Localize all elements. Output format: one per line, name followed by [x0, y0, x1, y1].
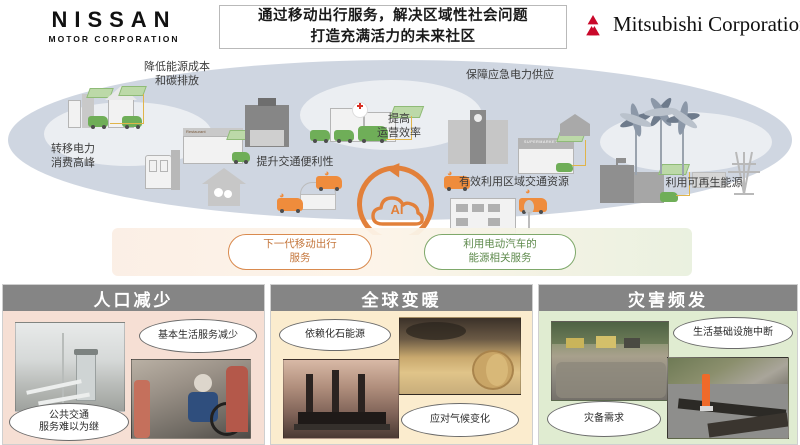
callout-line: 灾备需求 — [584, 413, 624, 426]
callout-line: 服务难以为继 — [39, 422, 99, 435]
wheel-icon — [91, 125, 95, 129]
pill-line: 利用电动汽车的 — [463, 238, 537, 252]
wheel-icon — [539, 210, 543, 214]
label-raise-efficiency: 提高 运营效率 — [366, 112, 432, 140]
header-bar: NISSAN MOTOR CORPORATION 通过移动出行服务，解决区域性社… — [0, 0, 800, 52]
callout-line: 生活基础设施中断 — [693, 327, 773, 340]
callout-basic-services-decline: 基本生活服务减少 — [139, 319, 257, 353]
wheel-icon — [102, 125, 106, 129]
wifi-icon: ◕ — [279, 190, 284, 200]
service-band-background — [112, 228, 692, 276]
callout-disaster-preparedness-demand: 灾备需求 — [547, 401, 661, 437]
photo-foggy-road-bus-stop — [15, 322, 125, 412]
label-line: 保障应急电力供应 — [453, 68, 567, 82]
flag-icon — [618, 158, 626, 163]
office-building-icon — [448, 120, 470, 164]
label-regional-transport: 有效利用区域交通资源 — [440, 175, 588, 189]
label-line: 和碳排放 — [122, 74, 232, 88]
wheel-icon — [319, 187, 323, 191]
wheel-icon — [324, 139, 328, 143]
factory-building-icon — [600, 165, 634, 203]
ev-car-icon — [556, 163, 573, 172]
window-icon — [456, 218, 468, 226]
panel-body-global-warming: 依赖化石能源 应对气候变化 — [271, 311, 532, 444]
panel-population-decline: 人口减少 基本生活服务减少 — [2, 284, 265, 445]
service-pill-ev-energy-service[interactable]: 利用电动汽车的 能源相关服务 — [424, 234, 576, 270]
callout-public-transport-unsustainable: 公共交通 服务难以为继 — [9, 403, 129, 441]
label-renewable-energy: 利用可再生能源 — [646, 176, 762, 190]
wheel-icon — [335, 187, 339, 191]
callout-fossil-fuel-dependence: 依赖化石能源 — [279, 319, 391, 351]
label-line: 提升交通便利性 — [240, 155, 350, 169]
wheel-icon — [234, 160, 238, 164]
label-line: 利用可再生能源 — [646, 176, 762, 190]
panel-body-frequent-disasters: 生活基础设施中断 灾备需求 — [539, 311, 797, 444]
window-icon — [472, 204, 484, 212]
platform-icon — [171, 150, 180, 190]
window-icon — [488, 204, 500, 212]
label-reduce-energy-cost: 降低能源成本 和碳排放 — [122, 60, 232, 88]
photo-cracked-road-earthquake — [667, 357, 789, 439]
label-line: 提高 — [366, 112, 432, 126]
pill-line: 下一代移动出行 — [263, 238, 337, 252]
photo-mudslide-village — [551, 321, 669, 401]
label-line: 转移电力 — [18, 142, 128, 156]
panel-title-population-decline: 人口减少 — [3, 285, 264, 311]
apartment-building-icon — [68, 100, 81, 128]
callout-climate-change-response: 应对气候变化 — [401, 403, 519, 437]
callout-line: 公共交通 — [49, 410, 89, 423]
panel-title-global-warming: 全球变暖 — [271, 285, 532, 311]
social-issues-panels: 人口减少 基本生活服务减少 — [0, 284, 800, 445]
label-shift-peak-demand: 转移电力 消费高峰 — [18, 142, 128, 170]
window-icon — [488, 218, 500, 226]
red-cross-icon — [359, 103, 361, 109]
mall-sign-icon — [258, 98, 276, 106]
turbine-blades-icon — [654, 98, 712, 140]
slide-title-line-1: 通过移动出行服务，解决区域性社会问题 — [258, 6, 528, 27]
photo-wheelchair-caregiver — [131, 359, 251, 439]
slide-canvas: NISSAN MOTOR CORPORATION 通过移动出行服务，解决区域性社… — [0, 0, 800, 445]
photo-oil-rig-silhouette — [283, 359, 399, 439]
nissan-subtitle: MOTOR CORPORATION — [26, 34, 202, 44]
nissan-wordmark: NISSAN — [26, 8, 202, 31]
person-icon — [214, 188, 223, 197]
wheel-icon — [337, 139, 341, 143]
slide-title-line-2: 打造充满活力的未来社区 — [311, 27, 476, 48]
mitsubishi-wordmark: Mitsubishi Corporation — [613, 12, 800, 37]
wheel-icon — [280, 209, 284, 213]
label-line: 降低能源成本 — [122, 60, 232, 74]
callout-line: 依赖化石能源 — [305, 329, 365, 342]
callout-line: 基本生活服务减少 — [158, 330, 238, 343]
label-line: 消费高峰 — [18, 156, 128, 170]
supermarket-label: SUPERMARKET — [524, 140, 558, 144]
pill-line: 服务 — [290, 252, 311, 266]
service-pill-next-gen-mobility[interactable]: 下一代移动出行 服务 — [228, 234, 372, 270]
train-window-icon — [160, 160, 168, 172]
panel-title-frequent-disasters: 灾害频发 — [539, 285, 797, 311]
train-window-icon — [149, 160, 157, 172]
panel-body-population-decline: 基本生活服务减少 公共交通 服务难以为继 — [3, 311, 264, 444]
three-diamonds-icon — [580, 14, 606, 36]
grey-house-icon — [558, 112, 592, 143]
office-building-icon — [486, 120, 508, 164]
wheel-icon — [348, 139, 352, 143]
wheel-icon — [313, 139, 317, 143]
panel-frequent-disasters: 灾害频发 生活基础设施中断 — [538, 284, 798, 445]
nissan-logo: NISSAN MOTOR CORPORATION — [26, 8, 202, 44]
wheel-icon — [136, 125, 140, 129]
label-line: 运营效率 — [366, 126, 432, 140]
clock-icon — [474, 114, 482, 122]
person-icon — [224, 190, 232, 198]
power-line-icon — [572, 140, 586, 166]
wheel-icon — [125, 125, 129, 129]
pill-line: 能源相关服务 — [469, 252, 532, 266]
label-line: 有效利用区域交通资源 — [440, 175, 588, 189]
shop-body-icon — [300, 194, 336, 210]
label-emergency-power: 保障应急电力供应 — [453, 68, 567, 82]
callout-infrastructure-disruption: 生活基础设施中断 — [673, 317, 793, 349]
callout-line: 应对气候变化 — [430, 414, 490, 427]
power-line-icon — [110, 94, 144, 124]
mall-entrance-icon — [250, 130, 284, 146]
house-roof-icon — [202, 168, 246, 184]
slide-title-box: 通过移动出行服务，解决区域性社会问题 打造充满活力的未来社区 — [219, 5, 567, 49]
mitsubishi-logo: Mitsubishi Corporation — [580, 12, 800, 37]
photo-hay-bale-stormy-field — [399, 317, 521, 395]
label-improve-mobility: 提升交通便利性 — [240, 155, 350, 169]
wheel-icon — [296, 209, 300, 213]
service-band: 下一代移动出行 服务 利用电动汽车的 能源相关服务 — [0, 228, 800, 280]
restaurant-label: Restaurant — [186, 129, 206, 134]
future-community-illustration: Restaurant — [0, 50, 800, 235]
ai-label: AI — [369, 202, 425, 217]
window-icon — [456, 204, 468, 212]
panel-global-warming: 全球变暖 依赖化石能源 应对气候变化 — [270, 284, 533, 445]
